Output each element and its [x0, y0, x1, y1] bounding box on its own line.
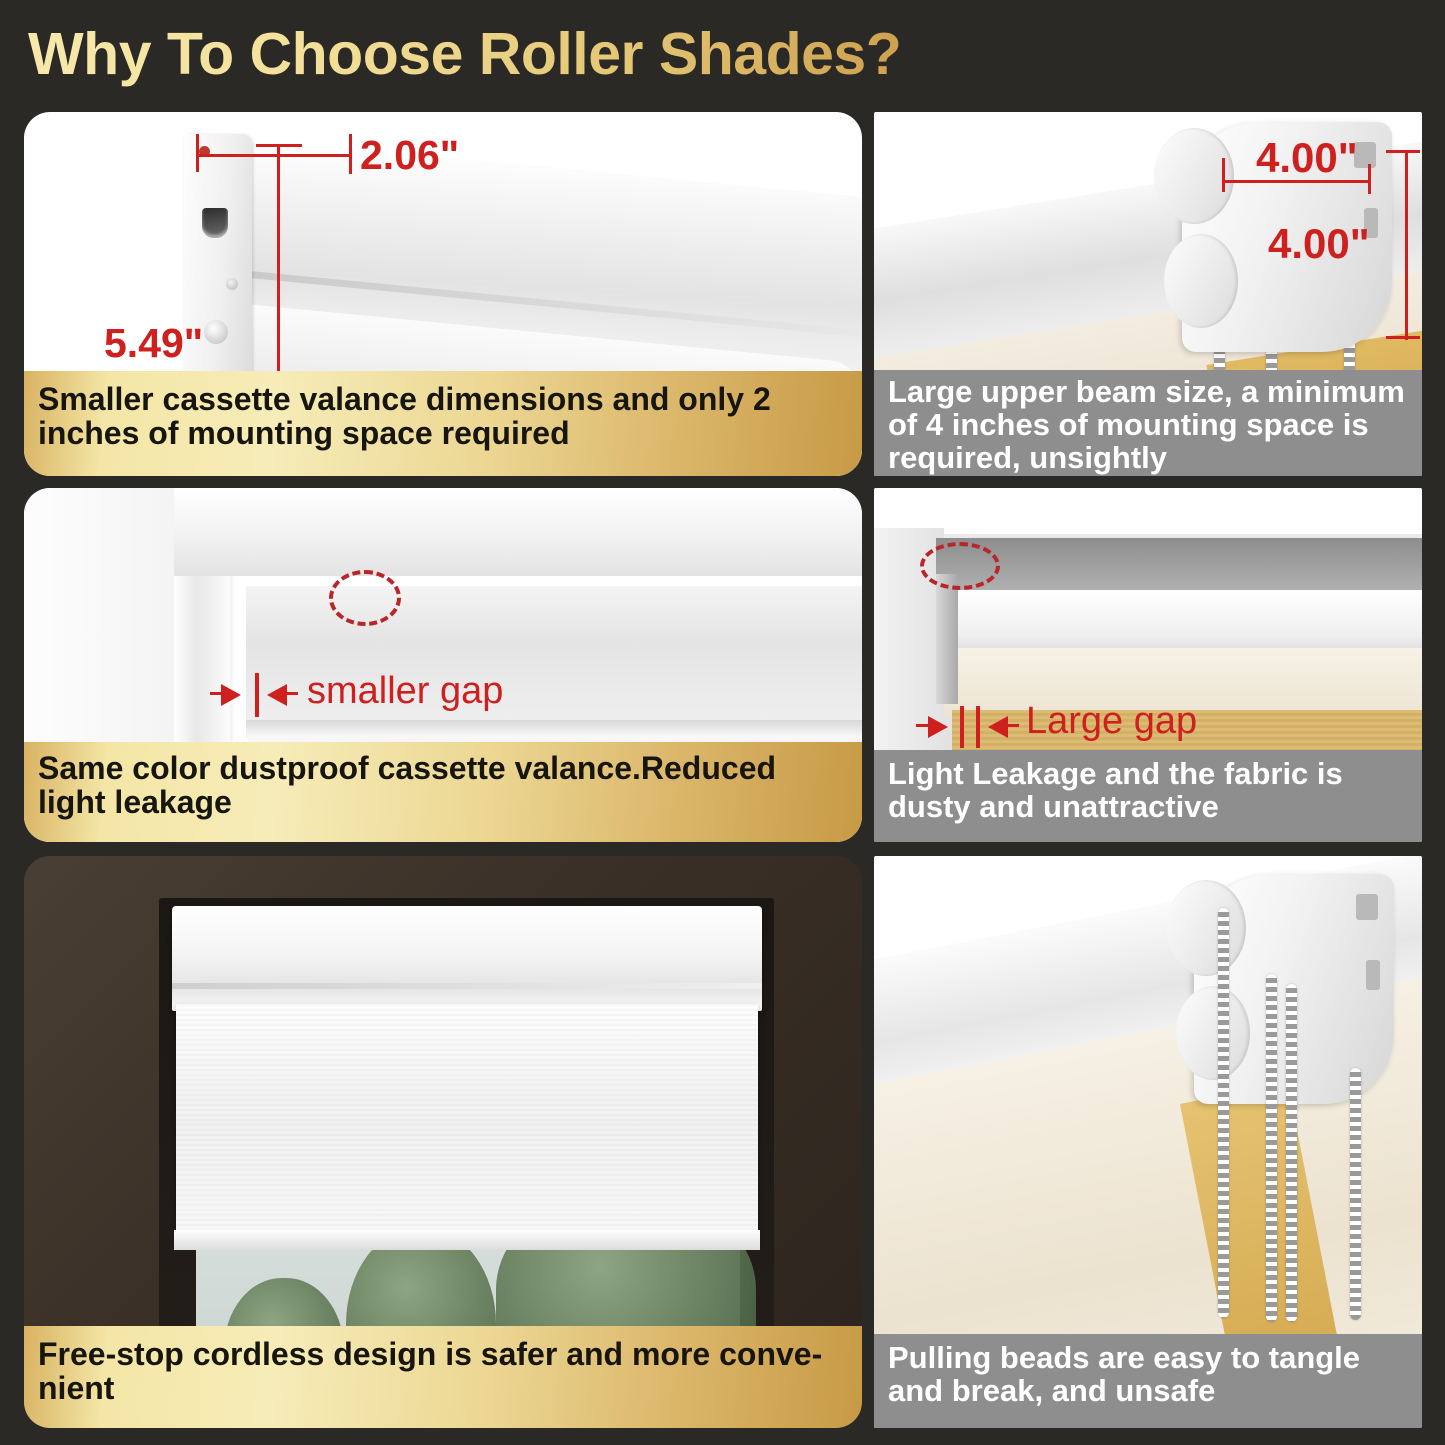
height-dim-tick-top [256, 144, 302, 147]
beam-width-label: 4.00" [1256, 134, 1358, 182]
beam-head-lobe-bottom [1164, 234, 1238, 328]
shade-valance-lip [246, 720, 862, 738]
beam-height-dim-line [1405, 150, 1408, 340]
gap-highlight-circle [329, 570, 401, 626]
caption-pulling-beads: Pulling beads are easy to tangle and bre… [874, 1334, 1422, 1428]
panel-pulling-beads[interactable]: Pulling beads are easy to tangle and bre… [874, 856, 1422, 1428]
bead-chain-3 [1286, 984, 1297, 1322]
caption-dustproof-cassette: Same color dustproof cassette valance.Re… [24, 742, 862, 842]
bracket-screw-small [226, 278, 238, 290]
beam-width-tick-left [1222, 158, 1225, 192]
caption-cassette-dimensions: Smaller cassette valance dimensions and … [24, 371, 862, 476]
window-header-molding [174, 488, 862, 576]
beads-head-lobe-bottom [1176, 986, 1250, 1080]
beam-height-tick-top [1386, 150, 1420, 153]
panel-dustproof-cassette[interactable]: smaller gap Same color dustproof cassett… [24, 488, 862, 842]
gap-arrow-left-stem [916, 724, 930, 727]
gap-callout-label: smaller gap [307, 670, 503, 713]
width-dim-label: 2.06" [360, 132, 459, 179]
panel-light-leakage[interactable]: Large gap Light Leakage and the fabric i… [874, 488, 1422, 842]
panel-large-upper-beam[interactable]: 4.00" 4.00" Large upper beam size, a min… [874, 112, 1422, 476]
comparison-grid: 2.06" 5.49" Smaller cassette valance dim… [0, 0, 1445, 1445]
bracket-screw [204, 320, 228, 344]
beam-height-label: 4.00" [1268, 220, 1370, 268]
gap-arrow-right-icon [988, 716, 1008, 738]
panel-cassette-dimensions[interactable]: 2.06" 5.49" Smaller cassette valance dim… [24, 112, 862, 476]
caption-large-upper-beam: Large upper beam size, a minimum of 4 in… [874, 370, 1422, 476]
beads-head-notch-bottom [1366, 960, 1380, 990]
width-dim-tick-left [196, 134, 199, 172]
gap-arrow-right-stem [1007, 724, 1019, 727]
headrail-white [936, 590, 1422, 656]
shade-valance [172, 906, 762, 1011]
shade-fabric-body [176, 1004, 758, 1239]
gap-arrow-right-icon [267, 684, 287, 706]
beads-head-lobe-top [1166, 880, 1246, 976]
gap-arrow-left-stem [210, 692, 224, 695]
gap-arrow-left-icon [928, 716, 948, 738]
bead-chain-4 [1350, 1068, 1361, 1320]
beam-height-tick-bottom [1386, 336, 1420, 339]
height-dim-label: 5.49" [104, 320, 203, 367]
bead-chain-1 [1218, 908, 1229, 1318]
bead-chain-2 [1266, 974, 1277, 1322]
gap-highlight-circle [920, 542, 1000, 590]
width-dim-tick-right [349, 134, 352, 174]
caption-cordless-design: Free-stop cordless design is safer and m… [24, 1326, 862, 1428]
shade-bottom-rail [174, 1230, 760, 1250]
headrail-shadow [936, 538, 1422, 598]
gap-callout-label: Large gap [1026, 700, 1197, 743]
beam-width-tick-right [1368, 164, 1371, 194]
gap-marker-line [255, 673, 259, 717]
bracket-slot [202, 208, 228, 238]
beads-head-notch-top [1356, 894, 1378, 920]
caption-light-leakage: Light Leakage and the fabric is dusty an… [874, 750, 1422, 842]
gap-marker-line-1 [960, 706, 964, 748]
side-bracket [936, 574, 958, 704]
gap-arrow-right-stem [286, 692, 298, 695]
panel-cordless-design[interactable]: Free-stop cordless design is safer and m… [24, 856, 862, 1428]
ceiling-surface [874, 488, 1422, 534]
gap-marker-line-2 [976, 706, 980, 748]
width-dim-line [196, 154, 352, 157]
gap-arrow-left-icon [221, 684, 241, 706]
